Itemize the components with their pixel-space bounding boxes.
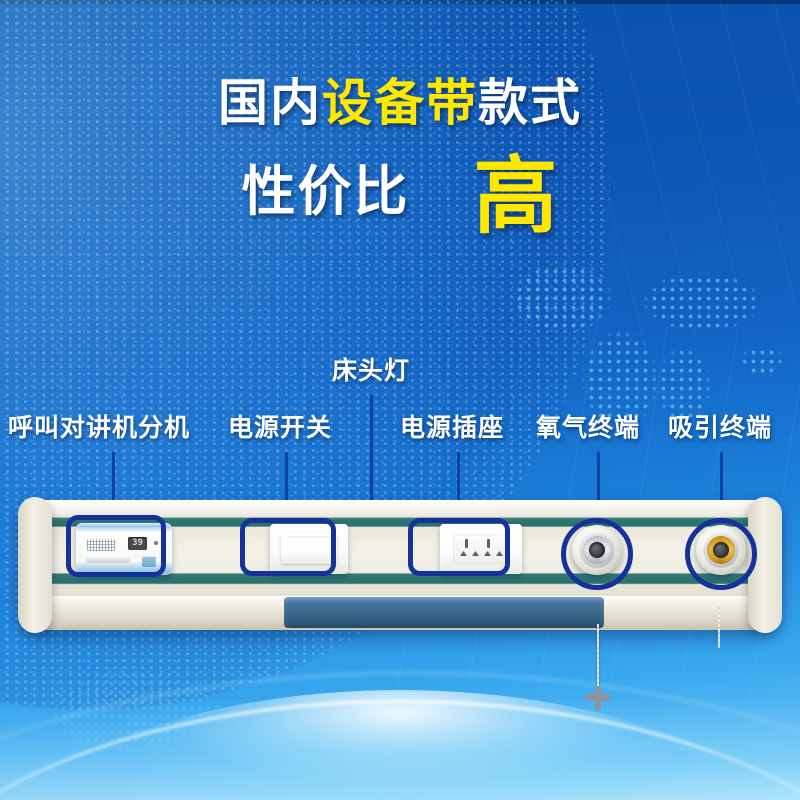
socket-slot-a: [460, 551, 467, 556]
callout-label-bed-lamp: 床头灯: [332, 358, 410, 383]
intercom-mic-slot: [86, 558, 130, 563]
intercom-display: 39: [128, 537, 147, 550]
callout-label-power-switch: 电源开关: [228, 415, 332, 440]
unit-top-highlight: [24, 500, 776, 520]
socket-slot-d: [496, 551, 503, 556]
suction-drain-tube: [718, 604, 720, 648]
power-switch-rocker[interactable]: [281, 533, 337, 564]
socket-slot-c: [484, 551, 491, 556]
socket-slot-b: [472, 551, 479, 556]
power-socket-face[interactable]: [453, 534, 509, 564]
socket-slot-neutral: [487, 539, 490, 548]
oxygen-terminal-port[interactable]: [572, 525, 622, 575]
callout-label-oxygen-terminal: 氧气终端: [536, 415, 640, 440]
intercom-unit[interactable]: 39: [76, 523, 172, 575]
callout-label-power-socket: 电源插座: [400, 415, 504, 440]
bottom-light-wash: [0, 700, 800, 800]
speaker-grille-icon: [87, 539, 115, 551]
call-cord[interactable]: [597, 624, 599, 694]
callout-label-suction-terminal: 吸引终端: [668, 415, 772, 440]
intercom-call-button[interactable]: [142, 556, 156, 567]
power-switch-plate[interactable]: [270, 524, 348, 574]
socket-slot-live: [465, 539, 468, 548]
suction-port-opening: [713, 542, 729, 558]
oxygen-port-opening: [589, 542, 605, 558]
callout-label-intercom: 呼叫对讲机分机: [8, 415, 190, 440]
promo-image: 国内设备带款式 性价比 高 呼叫对讲机分机 电源开关 床头灯 电源插座 氧气终端…: [0, 0, 800, 800]
bed-lamp-diffuser: [284, 597, 604, 628]
power-socket-plate[interactable]: [440, 524, 522, 574]
suction-terminal-port[interactable]: [696, 525, 746, 575]
unit-end-cap-right: [748, 497, 782, 633]
unit-end-cap-left: [18, 497, 52, 633]
medical-bed-head-unit: 39: [24, 500, 776, 630]
status-led-icon: [154, 541, 158, 545]
